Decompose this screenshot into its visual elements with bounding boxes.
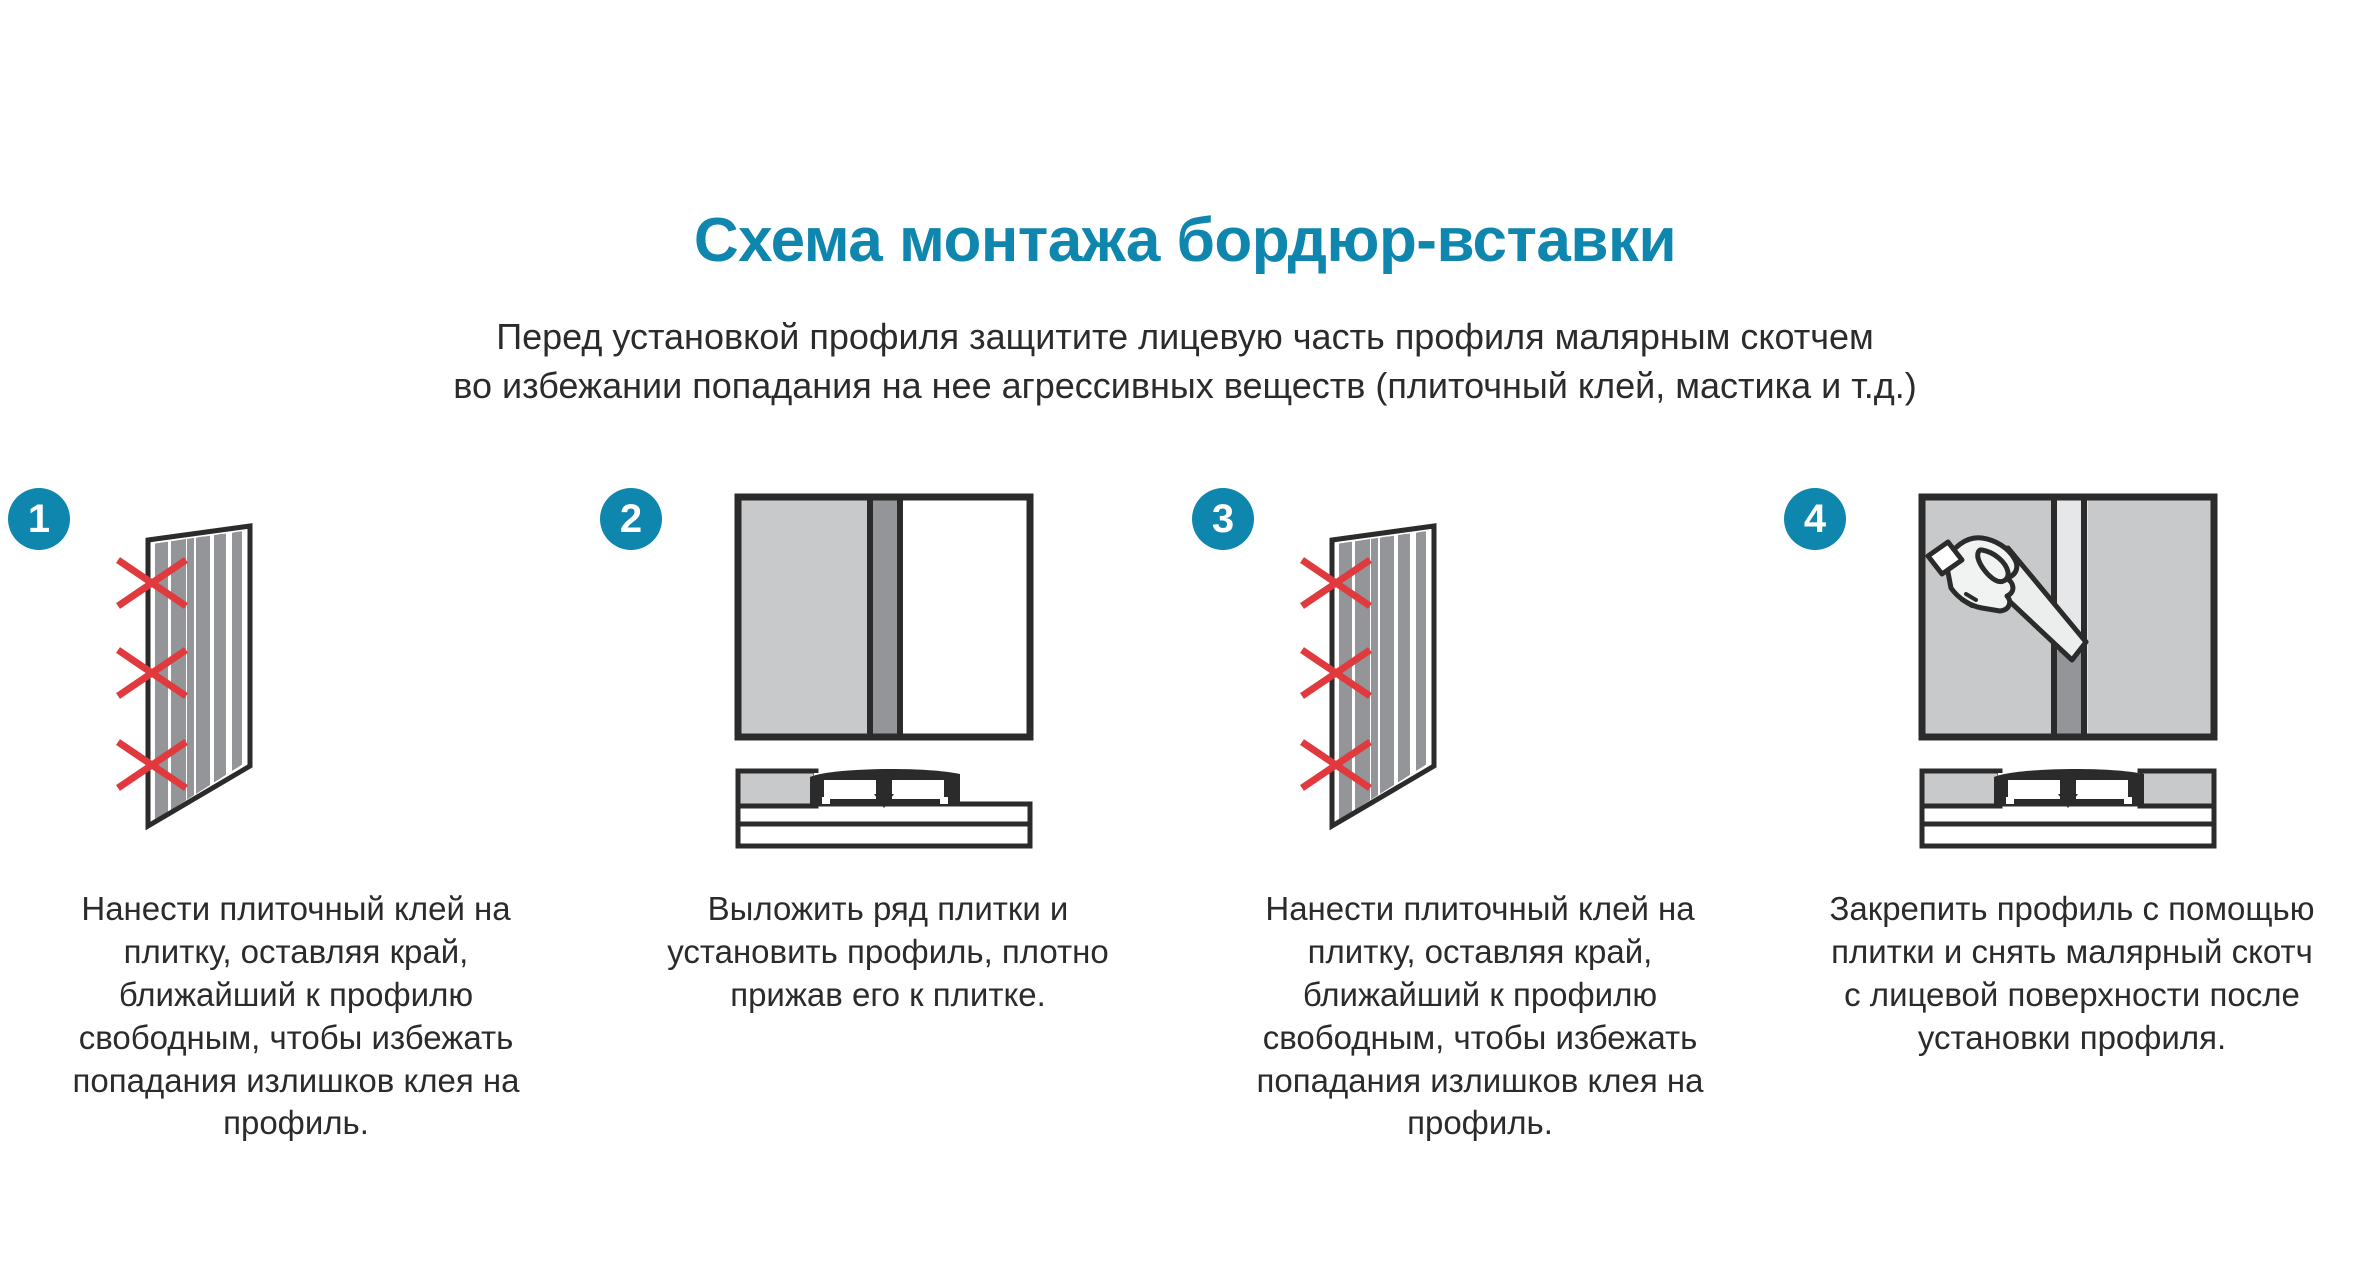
subtitle-line-1: Перед установкой профиля защитите лицеву… [0, 313, 2370, 362]
step-number-4: 4 [1784, 488, 1846, 550]
front-elevation-view [1922, 497, 2214, 737]
step-1: 1 [0, 470, 592, 1270]
substrate-layers [738, 804, 1030, 846]
step-number-2: 2 [600, 488, 662, 550]
page-title: Схема монтажа бордюр-вставки [0, 0, 2370, 273]
subtitle-line-2: во избежании попадания на нее агрессивны… [0, 362, 2370, 411]
substrate-layers [1922, 804, 2214, 846]
tile-left-section [740, 773, 814, 804]
step-3-caption: Нанести плиточный клей на плитку, оставл… [1184, 888, 1776, 1145]
step-1-illustration [0, 470, 592, 860]
step-2-illustration [592, 470, 1184, 860]
tile-left [742, 501, 870, 734]
page-header: Схема монтажа бордюр-вставки Перед устан… [0, 0, 2370, 411]
tile-right [2088, 501, 2211, 734]
border-insert-profile [873, 501, 897, 734]
front-elevation-view [738, 497, 1030, 737]
step-3: 3 [1184, 470, 1776, 1270]
step-4: 4 [1776, 470, 2368, 1270]
step-number-3: 3 [1192, 488, 1254, 550]
steps-row: 1 [0, 470, 2370, 1270]
step-1-caption: Нанести плиточный клей на плитку, оставл… [0, 888, 592, 1145]
step-3-illustration [1184, 470, 1776, 860]
step-number-1: 1 [8, 488, 70, 550]
step-4-illustration [1776, 470, 2368, 860]
tile-left-section [1924, 773, 1998, 804]
cross-section-view [1922, 769, 2214, 846]
step-2-caption: Выложить ряд плитки и установить профиль… [592, 888, 1184, 1017]
page-subtitle: Перед установкой профиля защитите лицеву… [0, 273, 2370, 411]
cross-section-view [738, 769, 1030, 846]
step-2: 2 [592, 470, 1184, 1270]
step-4-caption: Закрепить профиль с помощью плитки и сня… [1776, 888, 2368, 1060]
tile-right-section [2142, 773, 2212, 804]
